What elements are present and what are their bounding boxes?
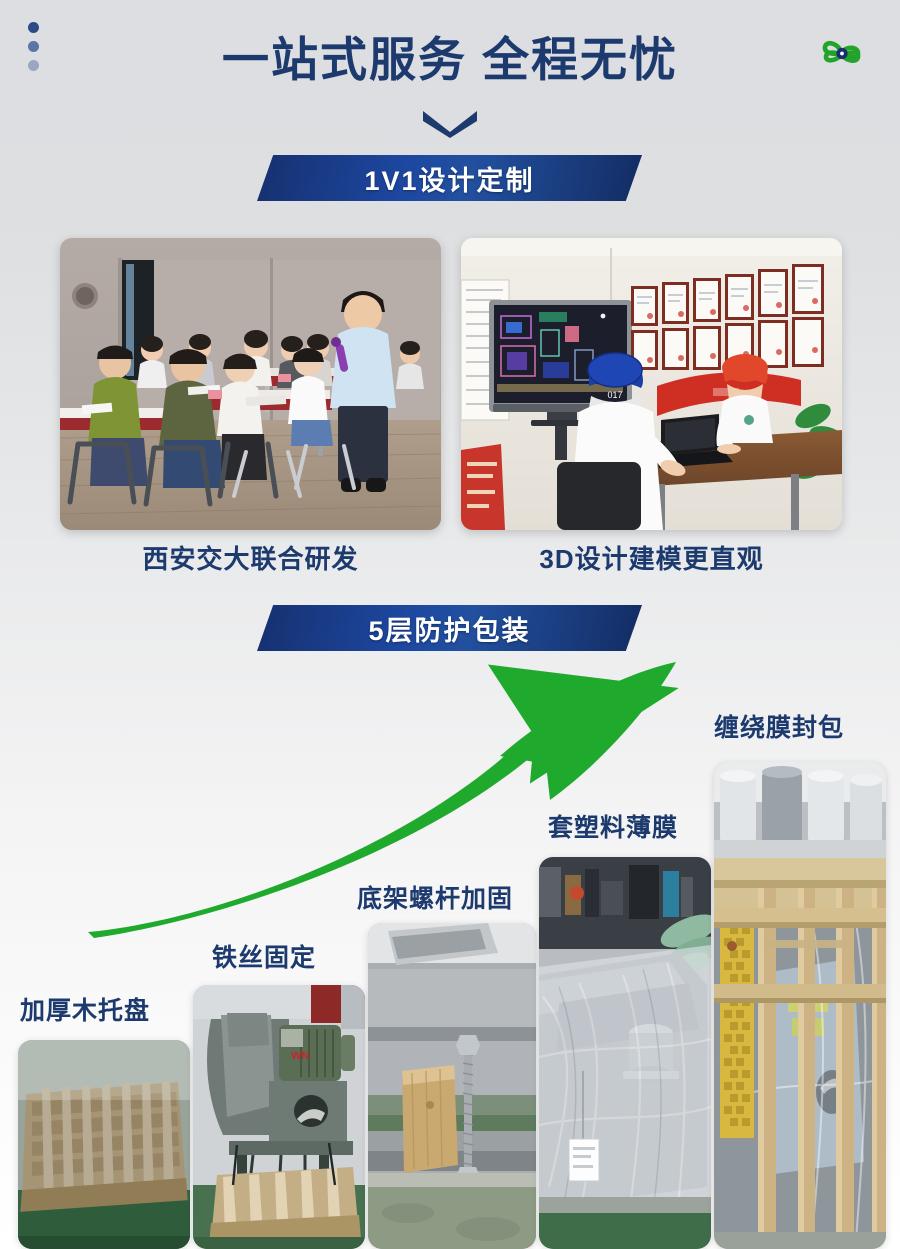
training-classroom-photo xyxy=(60,238,441,530)
section-ribbon-design: 1V1设计定制 xyxy=(257,155,642,201)
plastic-film-wrap-photo xyxy=(539,857,711,1249)
ribbon-label: 1V1设计定制 xyxy=(364,159,534,198)
stretch-film-crate-photo xyxy=(714,762,886,1249)
photo-caption-1: 西安交大联合研发 xyxy=(60,539,441,576)
page-title: 一站式服务 全程无忧 xyxy=(0,34,900,86)
step-label-5: 缠绕膜封包 xyxy=(714,708,844,744)
office-3d-design-photo: 017 xyxy=(461,238,842,530)
wire-fixing-photo: WN xyxy=(193,985,365,1249)
promo-page: 一站式服务 全程无忧 1V1设计定制 xyxy=(0,0,900,1249)
wooden-pallet-photo xyxy=(18,1040,190,1249)
photo-caption-2: 3D设计建模更直观 xyxy=(461,539,842,576)
section-ribbon-packaging: 5层防护包装 xyxy=(257,605,642,651)
svg-text:017: 017 xyxy=(607,390,622,400)
svg-text:WN: WN xyxy=(291,1050,309,1062)
base-frame-bolt-photo xyxy=(368,923,536,1249)
step-label-2: 铁丝固定 xyxy=(212,938,316,974)
ribbon-label: 5层防护包装 xyxy=(368,609,530,648)
chevron-down-icon xyxy=(0,108,900,138)
step-label-1: 加厚木托盘 xyxy=(20,991,150,1027)
dot-1 xyxy=(28,22,39,33)
step-label-4: 套塑料薄膜 xyxy=(548,808,678,844)
step-label-3: 底架螺杆加固 xyxy=(357,879,513,915)
